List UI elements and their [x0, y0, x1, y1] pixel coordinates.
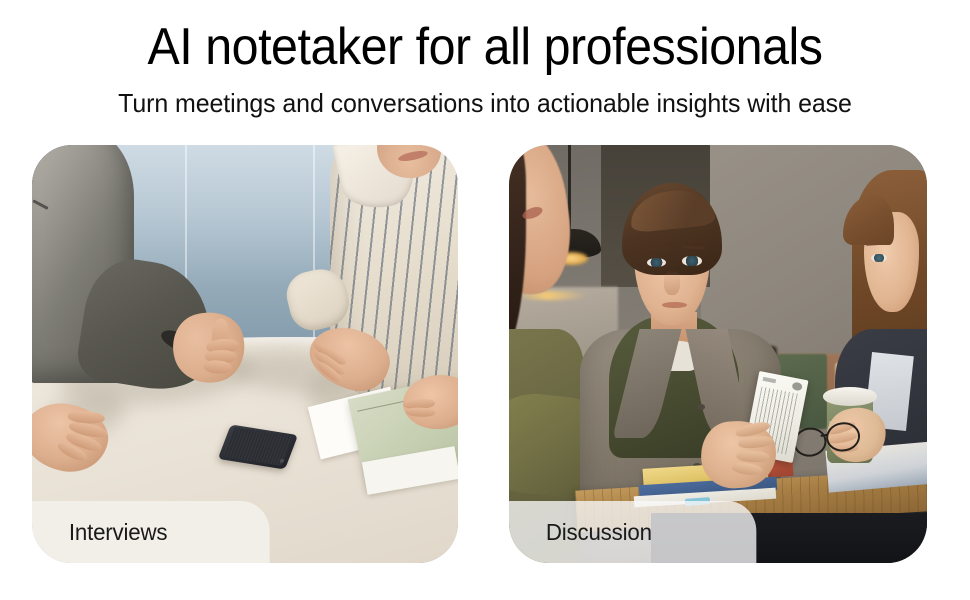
- note-card-text: [763, 377, 777, 384]
- jacket-button: [697, 404, 705, 410]
- promo-page: AI notetaker for all professionals Turn …: [0, 0, 970, 600]
- card-label-text: Interviews: [69, 519, 168, 546]
- card-label-interviews[interactable]: Interviews: [32, 501, 270, 563]
- note-card-mark: [792, 382, 803, 391]
- card-label-discussion[interactable]: Discussion: [509, 501, 756, 563]
- eye: [682, 256, 701, 266]
- coffee-cup-lid: [823, 387, 877, 405]
- card-discussion[interactable]: Discussion: [509, 145, 927, 563]
- card-interviews[interactable]: Interviews: [32, 145, 458, 563]
- page-subtitle: Turn meetings and conversations into act…: [19, 88, 950, 119]
- nose: [664, 270, 681, 295]
- phone-button: [279, 459, 284, 463]
- card-label-text: Discussion: [546, 519, 652, 546]
- blazer-fold: [33, 199, 49, 209]
- page-title: AI notetaker for all professionals: [34, 18, 936, 78]
